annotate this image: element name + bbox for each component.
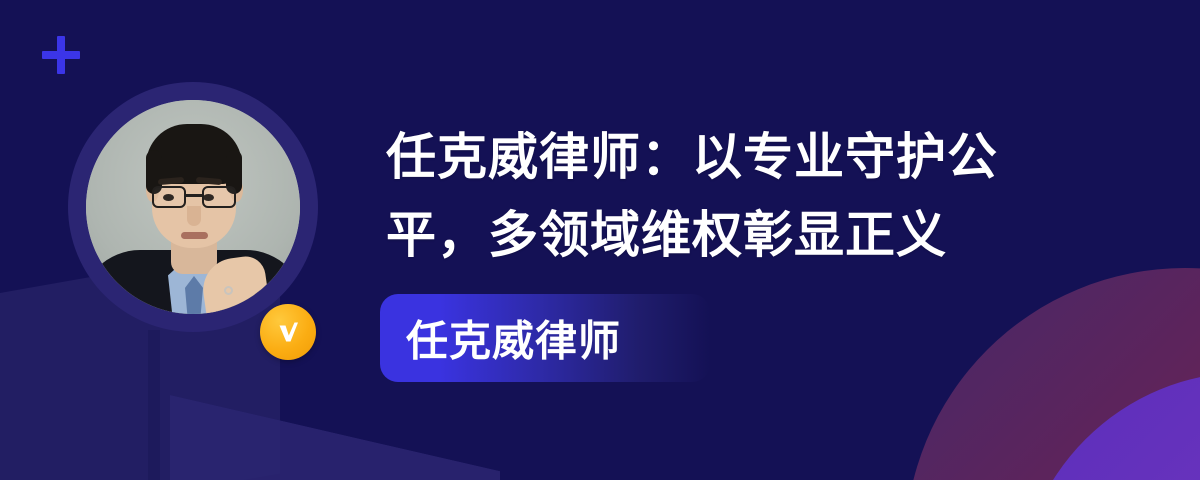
portrait-mouth xyxy=(181,232,208,239)
decorative-polygon-bottom xyxy=(170,395,500,480)
portrait-finger-ring xyxy=(224,286,233,295)
portrait-glasses-bridge xyxy=(186,194,202,197)
decorative-bar-left xyxy=(148,330,160,480)
portrait-glasses-lens-left xyxy=(152,186,186,208)
lawyer-name-badge[interactable]: 任克威律师 xyxy=(380,294,710,382)
page-title: 任克威律师：以专业守护公平，多领域维权彰显正义 xyxy=(386,118,1086,274)
avatar[interactable] xyxy=(68,82,318,332)
headline-block: 任克威律师：以专业守护公平，多领域维权彰显正义 xyxy=(386,118,1086,274)
verified-badge-icon xyxy=(260,304,316,360)
portrait-glasses-lens-right xyxy=(202,186,236,208)
avatar-photo xyxy=(86,100,300,314)
lawyer-name-label: 任克威律师 xyxy=(406,308,621,369)
portrait-nose xyxy=(187,206,201,226)
promo-banner: 任克威律师：以专业守护公平，多领域维权彰显正义 任克威律师 xyxy=(0,0,1200,480)
plus-icon xyxy=(42,36,80,74)
